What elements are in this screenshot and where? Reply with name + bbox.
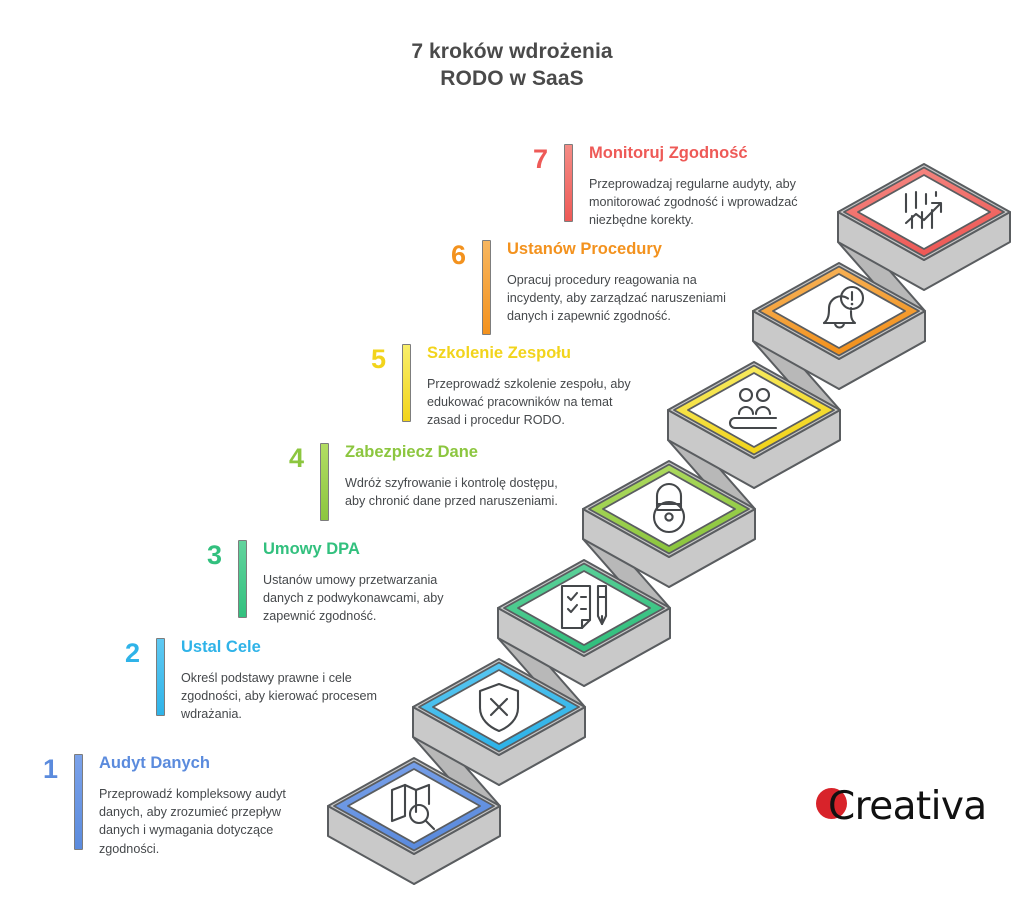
- bell-alert-icon: [824, 287, 863, 328]
- step-accent-bar-4: [320, 443, 329, 521]
- step-diamond-face-1: [348, 769, 480, 843]
- step-desc-3: Ustanów umowy przetwarzania danych z pod…: [263, 571, 478, 626]
- step-text-6: Ustanów Procedury Opracuj procedury reag…: [507, 240, 736, 326]
- step-accent-bar-3: [238, 540, 247, 618]
- step-desc-2: Określ podstawy prawne i cele zgodności,…: [181, 669, 402, 724]
- step-diamond-face-7: [858, 175, 990, 249]
- step-diamond-face-6: [773, 274, 905, 348]
- map-search-icon: [392, 785, 434, 829]
- page-title: 7 kroków wdrożenia RODO w SaaS: [0, 38, 1024, 93]
- step-accent-bar-2: [156, 638, 165, 716]
- logo-wordmark: Creativa: [828, 784, 987, 829]
- team-training-icon: [730, 389, 776, 428]
- step-number-7: 7: [518, 146, 548, 173]
- step-title-6: Ustanów Procedury: [507, 240, 736, 260]
- step-diamond-face-4: [603, 472, 735, 546]
- step-block-3: 3 Umowy DPA Ustanów umowy przetwarzania …: [192, 540, 478, 626]
- step-text-5: Szkolenie Zespołu Przeprowadź szkolenie …: [427, 344, 646, 430]
- infographic-canvas: 7 kroków wdrożenia RODO w SaaS 7 Monitor…: [0, 0, 1024, 898]
- step-accent-bar-7: [564, 144, 573, 222]
- creativa-logo: Creativa: [812, 784, 982, 836]
- step-title-5: Szkolenie Zespołu: [427, 344, 646, 364]
- step-platform-1: [328, 707, 500, 884]
- step-title-2: Ustal Cele: [181, 638, 402, 658]
- step-platform-5: [668, 311, 840, 488]
- step-title-1: Audyt Danych: [99, 754, 320, 774]
- step-diamond-face-5: [688, 373, 820, 447]
- step-desc-6: Opracuj procedury reagowania na incydent…: [507, 271, 736, 326]
- step-top-2: [413, 659, 585, 755]
- step-top-6: [753, 263, 925, 359]
- step-block-6: 6 Ustanów Procedury Opracuj procedury re…: [436, 240, 736, 335]
- step-number-6: 6: [436, 242, 466, 269]
- step-side-2: [413, 707, 585, 785]
- step-riser-3: [583, 509, 670, 686]
- step-top-3: [498, 560, 670, 656]
- growth-chart-icon: [906, 192, 941, 228]
- step-top-1: [328, 758, 500, 854]
- step-diamond-ring-6: [759, 267, 919, 356]
- step-desc-4: Wdróż szyfrowanie i kontrolę dostępu, ab…: [345, 474, 560, 511]
- page-title-line1: 7 kroków wdrożenia: [411, 40, 612, 63]
- step-text-1: Audyt Danych Przeprowadź kompleksowy aud…: [99, 754, 320, 858]
- shield-x-icon: [480, 684, 518, 731]
- step-text-2: Ustal Cele Określ podstawy prawne i cele…: [181, 638, 402, 724]
- step-text-4: Zabezpiecz Dane Wdróż szyfrowanie i kont…: [345, 443, 560, 510]
- step-diamond-ring-1: [334, 762, 494, 851]
- step-block-1: 1 Audyt Danych Przeprowadź kompleksowy a…: [28, 754, 320, 858]
- step-number-4: 4: [274, 445, 304, 472]
- step-side-7: [838, 212, 1010, 290]
- contract-pen-icon: [562, 586, 606, 628]
- step-text-7: Monitoruj Zgodność Przeprowadzaj regular…: [589, 144, 818, 230]
- step-side-4: [583, 509, 755, 587]
- step-side-5: [668, 410, 840, 488]
- step-block-7: 7 Monitoruj Zgodność Przeprowadzaj regul…: [518, 144, 818, 230]
- step-top-4: [583, 461, 755, 557]
- step-platform-4: [583, 410, 755, 587]
- step-desc-7: Przeprowadzaj regularne audyty, aby moni…: [589, 175, 818, 230]
- step-desc-5: Przeprowadź szkolenie zespołu, aby eduko…: [427, 375, 646, 430]
- step-diamond-ring-5: [674, 366, 834, 455]
- step-diamond-ring-7: [844, 168, 1004, 257]
- step-diamond-ring-4: [589, 465, 749, 554]
- step-side-1: [328, 806, 500, 884]
- step-side-6: [753, 311, 925, 389]
- step-riser-5: [753, 311, 840, 488]
- step-platform-3: [498, 509, 670, 686]
- padlock-icon: [654, 484, 684, 532]
- step-number-1: 1: [28, 756, 58, 783]
- step-platform-2: [413, 608, 585, 785]
- step-riser-4: [668, 410, 755, 587]
- step-top-7: [838, 164, 1010, 260]
- step-number-2: 2: [110, 640, 140, 667]
- step-number-3: 3: [192, 542, 222, 569]
- step-block-4: 4 Zabezpiecz Dane Wdróż szyfrowanie i ko…: [274, 443, 560, 521]
- step-diamond-face-2: [433, 670, 565, 744]
- step-riser-6: [838, 212, 925, 389]
- step-diamond-ring-2: [419, 663, 579, 752]
- step-riser-2: [498, 608, 585, 785]
- step-riser-1: [413, 707, 500, 884]
- step-platform-7: [838, 164, 1010, 290]
- page-title-line2: RODO w SaaS: [0, 65, 1024, 92]
- step-text-3: Umowy DPA Ustanów umowy przetwarzania da…: [263, 540, 478, 626]
- step-diamond-ring-3: [504, 564, 664, 653]
- step-title-7: Monitoruj Zgodność: [589, 144, 818, 164]
- step-block-5: 5 Szkolenie Zespołu Przeprowadź szkoleni…: [356, 344, 646, 430]
- step-accent-bar-1: [74, 754, 83, 850]
- step-diamond-face-3: [518, 571, 650, 645]
- step-desc-1: Przeprowadź kompleksowy audyt danych, ab…: [99, 785, 320, 858]
- step-platform-6: [753, 212, 925, 389]
- step-accent-bar-6: [482, 240, 491, 335]
- step-side-3: [498, 608, 670, 686]
- step-number-5: 5: [356, 346, 386, 373]
- step-block-2: 2 Ustal Cele Określ podstawy prawne i ce…: [110, 638, 402, 724]
- step-top-5: [668, 362, 840, 458]
- step-title-3: Umowy DPA: [263, 540, 478, 560]
- step-title-4: Zabezpiecz Dane: [345, 443, 560, 463]
- step-accent-bar-5: [402, 344, 411, 422]
